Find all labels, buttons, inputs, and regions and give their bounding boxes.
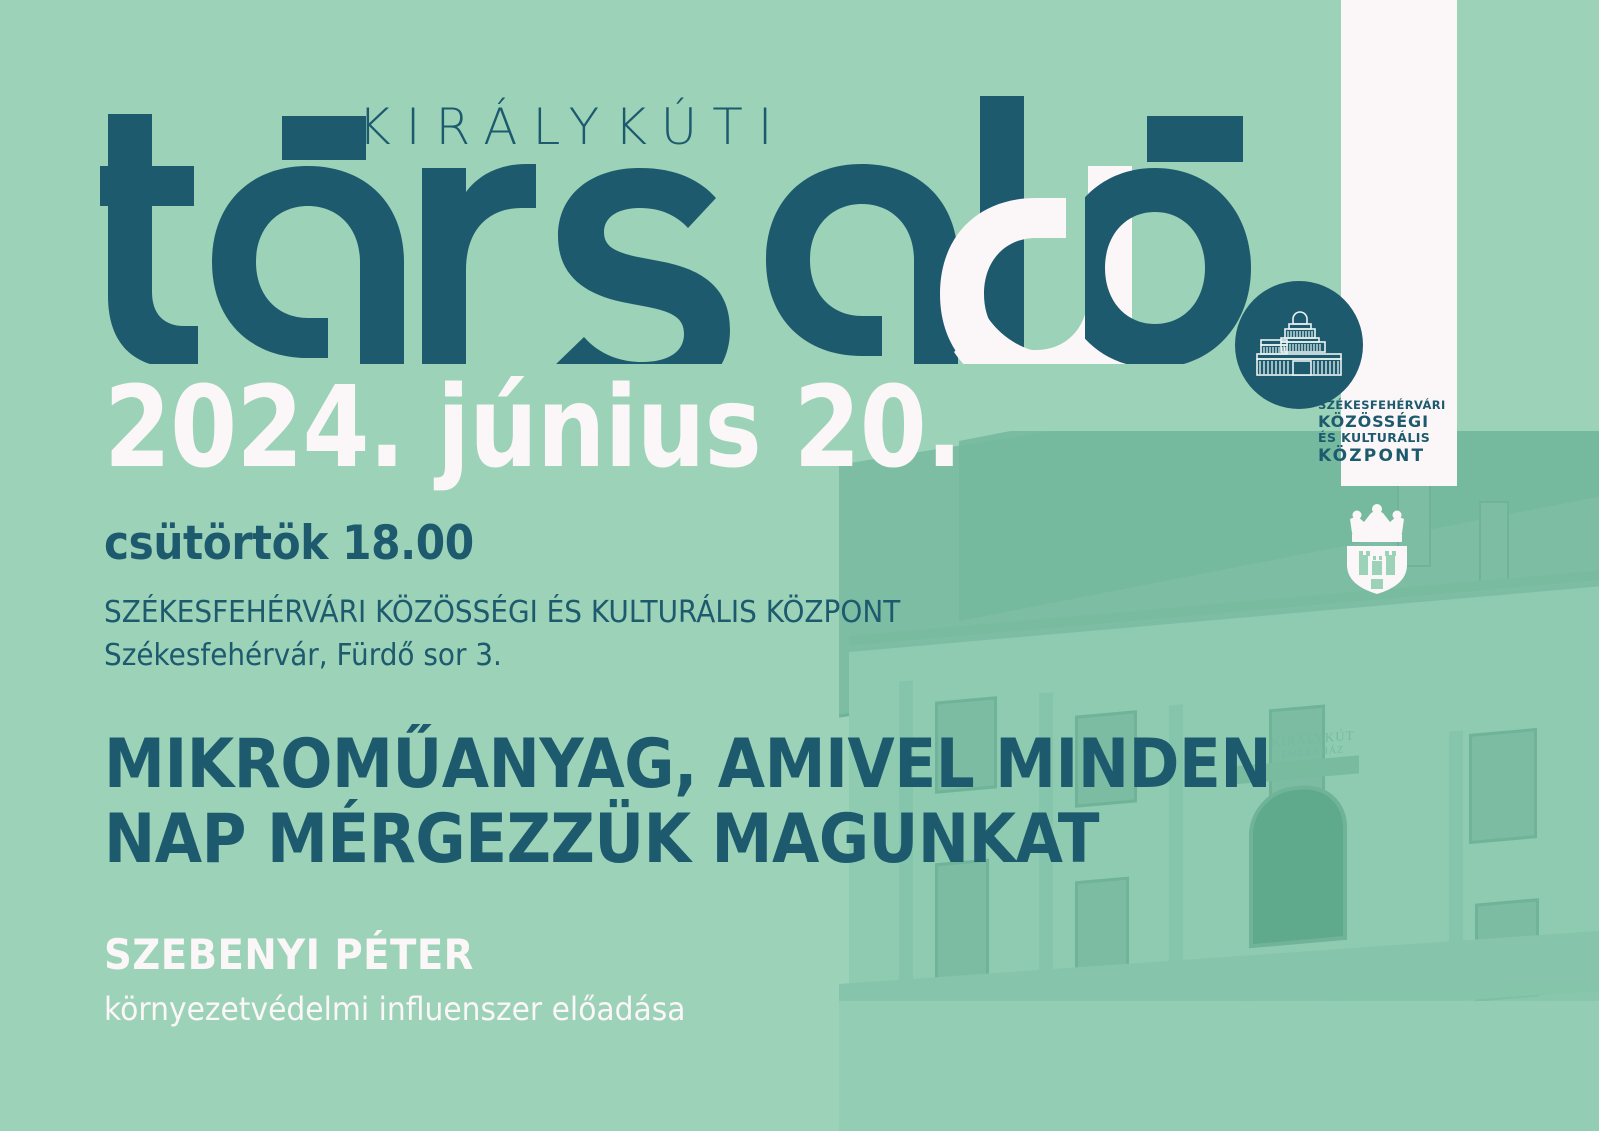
building-plinth bbox=[839, 928, 1599, 1044]
event-date: 2024. június 20. bbox=[104, 372, 962, 484]
building-plaque: KIRÁLYKÚT EMLÉKHÁZ bbox=[1271, 727, 1355, 763]
venue-block: SZÉKESFEHÉRVÁRI KÖZÖSSÉGI ÉS KULTURÁLIS … bbox=[104, 592, 900, 677]
building-steps bbox=[1169, 962, 1429, 1020]
building-cornice bbox=[849, 567, 1599, 662]
photo-grass bbox=[839, 980, 1599, 1092]
tarsalgo-logo: KIRÁLYKÚTI bbox=[100, 96, 1160, 364]
building-window bbox=[1075, 877, 1129, 1008]
event-day-and-time: csütörtök 18.00 bbox=[104, 516, 474, 571]
organizer-logo-line1: SZÉKESFEHÉRVÁRI bbox=[1318, 399, 1448, 413]
logo-wordmark-tarsalgo bbox=[100, 96, 1160, 364]
photo-foreground bbox=[839, 1001, 1599, 1131]
building-window bbox=[1269, 705, 1325, 812]
szekesfehervar-coat-of-arms-icon bbox=[1330, 503, 1424, 595]
speaker-name: SZEBENYI PÉTER bbox=[104, 930, 474, 979]
building-window bbox=[1469, 728, 1537, 844]
event-headline: MIKROMŰANYAG, AMIVEL MINDEN NAP MÉRGEZZÜ… bbox=[104, 728, 1271, 878]
building-plaque-line1: KIRÁLYKÚT bbox=[1271, 727, 1355, 751]
venue-name: SZÉKESFEHÉRVÁRI KÖZÖSSÉGI ÉS KULTURÁLIS … bbox=[104, 592, 900, 635]
building-plaque-line2: EMLÉKHÁZ bbox=[1271, 744, 1355, 764]
poster-canvas: KIRÁLYKÚT EMLÉKHÁZ bbox=[0, 0, 1599, 1131]
event-headline-line1: MIKROMŰANYAG, AMIVEL MINDEN bbox=[104, 728, 1271, 803]
organizer-logo-line3: ÉS KULTURÁLIS bbox=[1318, 431, 1448, 446]
building-pilaster bbox=[1449, 730, 1463, 1031]
organizer-logo-line4: KÖZPONT bbox=[1318, 446, 1448, 466]
logo-letter-o-accent bbox=[1085, 96, 1265, 364]
event-headline-line2: NAP MÉRGEZZÜK MAGUNKAT bbox=[104, 803, 1271, 878]
venue-address: Székesfehérvár, Fürdő sor 3. bbox=[104, 635, 900, 678]
organizer-logo-line2: KÖZÖSSÉGI bbox=[1318, 413, 1448, 432]
building-window bbox=[1475, 898, 1539, 1002]
building-chimney bbox=[1479, 501, 1509, 585]
building-roof-upper bbox=[959, 431, 1599, 621]
organizer-logo-text: SZÉKESFEHÉRVÁRI KÖZÖSSÉGI ÉS KULTURÁLIS … bbox=[1318, 399, 1448, 466]
speaker-role: környezetvédelmi influenszer előadása bbox=[104, 990, 686, 1028]
